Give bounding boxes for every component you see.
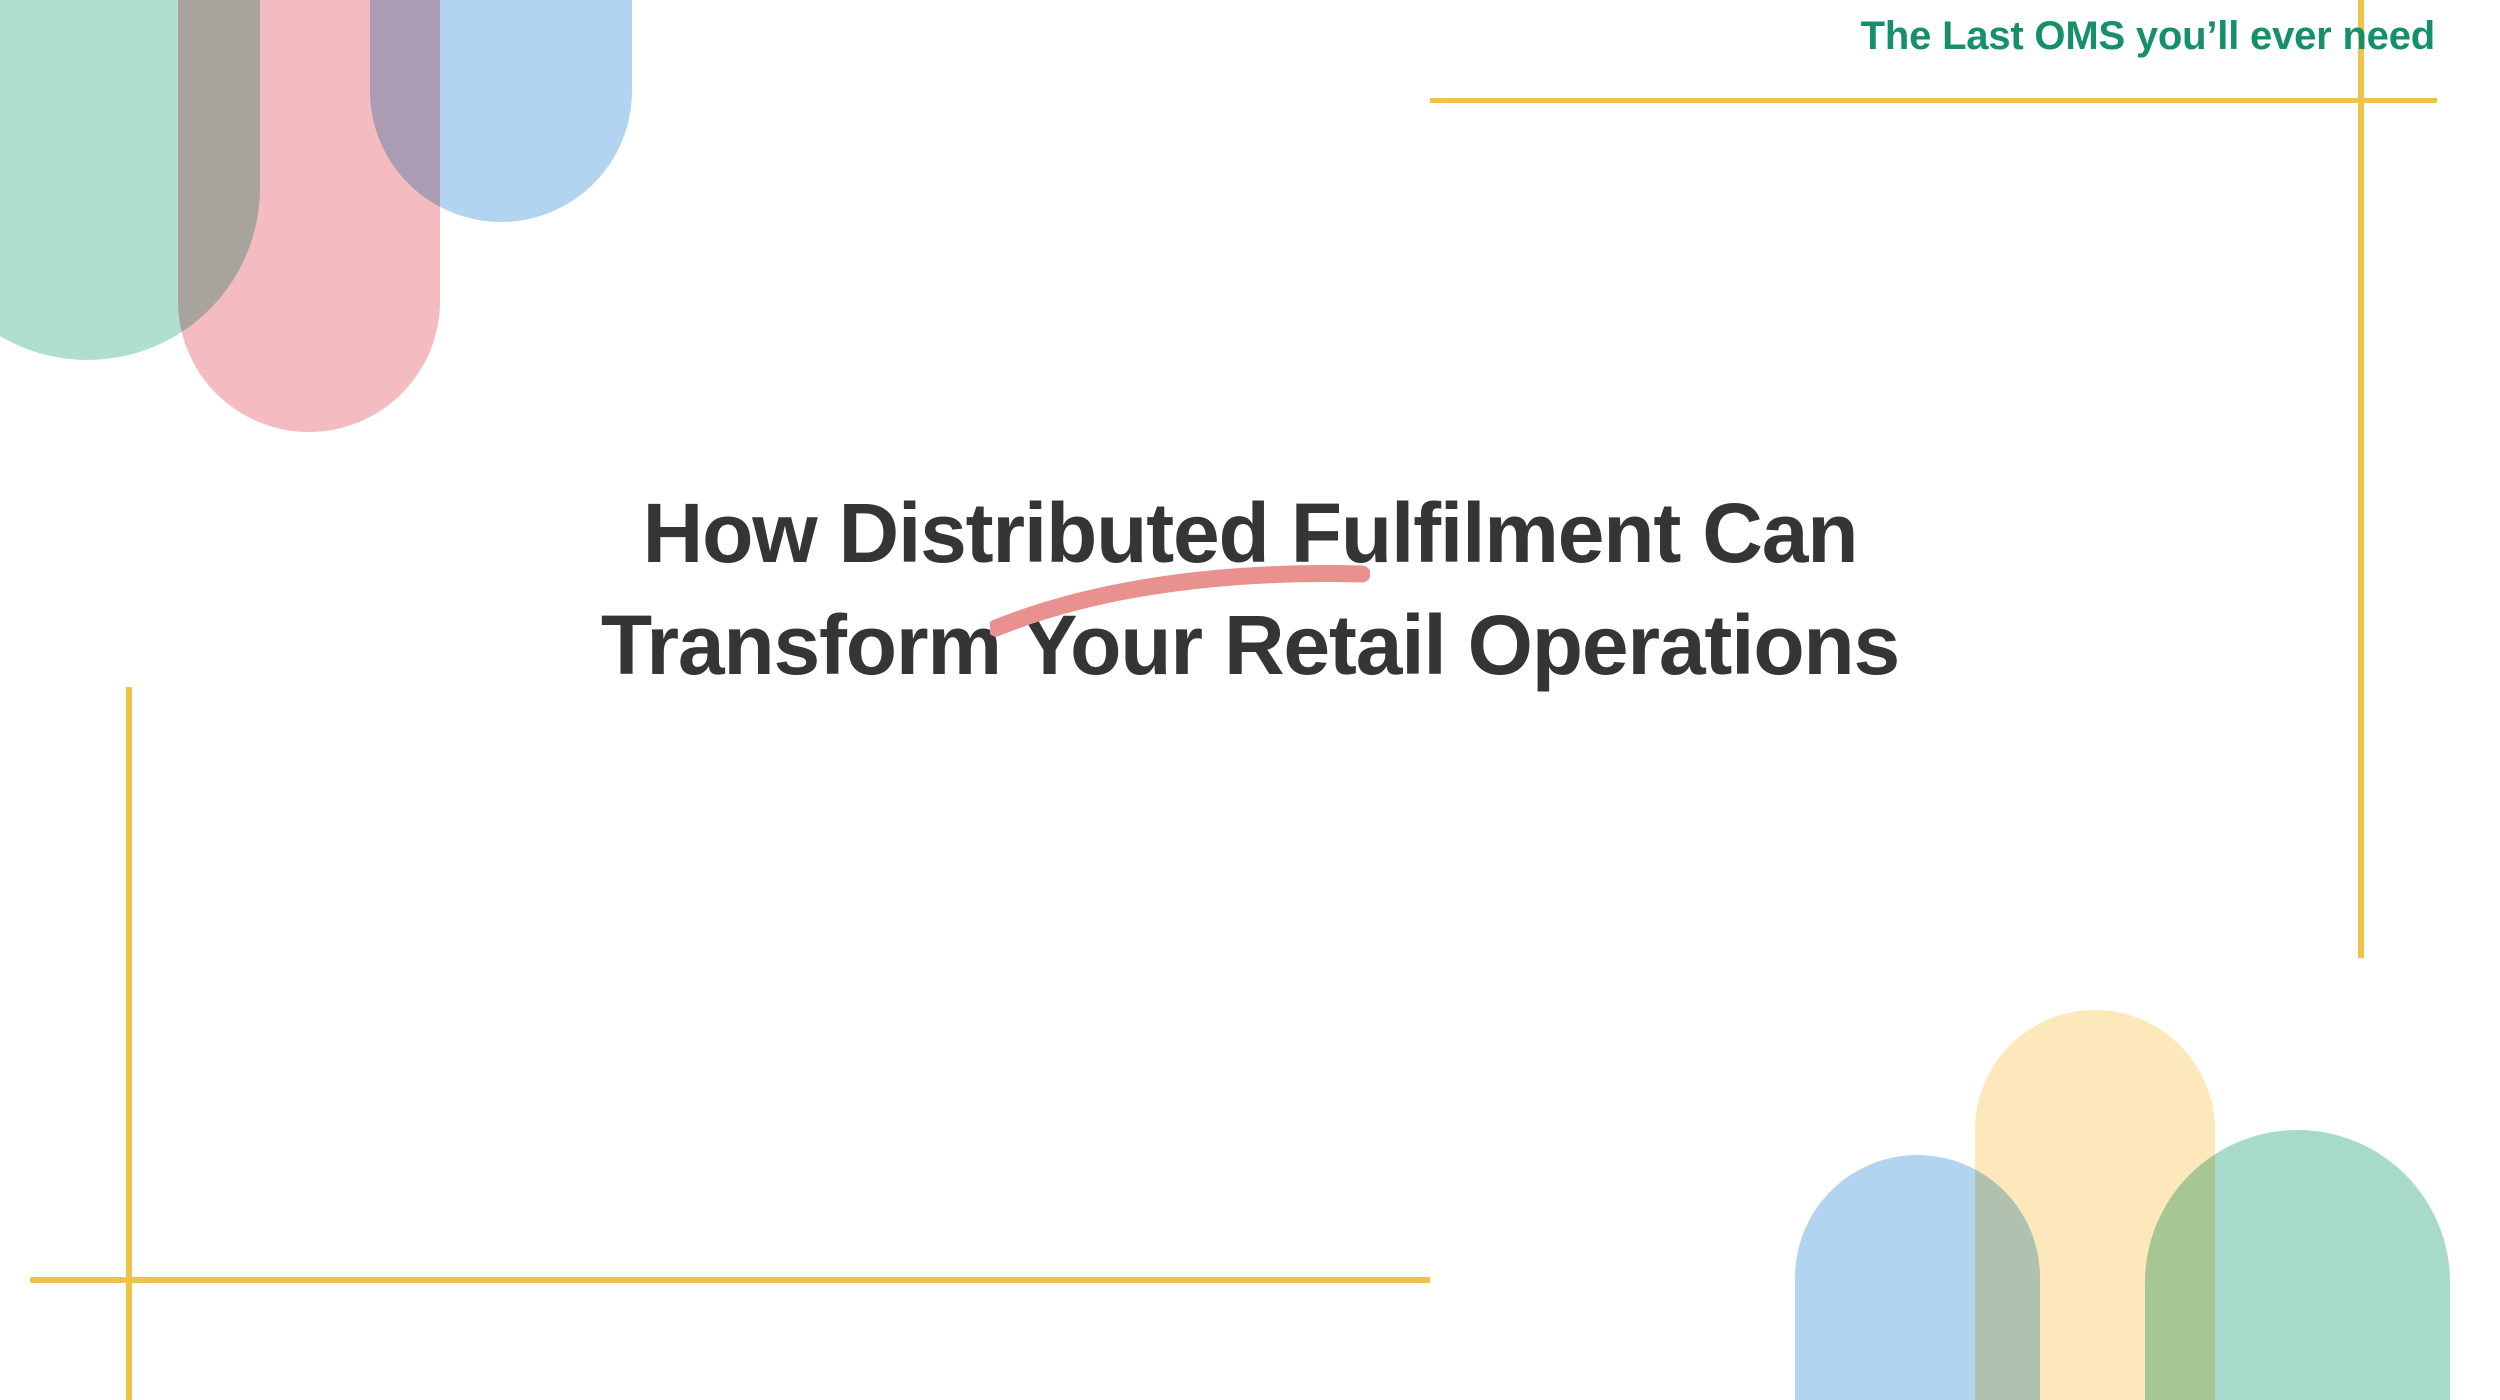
slide-title: How Distributed Fulfilment Can Transform…	[250, 478, 2250, 701]
bottom-horizontal-rule	[30, 1277, 1430, 1283]
bottom-right-blue-arch	[1795, 1155, 2040, 1400]
top-left-pink-arch	[178, 0, 440, 432]
bottom-right-cream-arch	[1975, 1010, 2215, 1400]
left-vertical-rule	[126, 687, 132, 1400]
title-line-2: Transform Your Retail Operations	[250, 590, 2250, 702]
top-left-arch-cluster	[0, 0, 700, 500]
top-horizontal-rule	[1430, 98, 2437, 103]
right-vertical-rule	[2358, 0, 2364, 958]
slide-canvas: The Last OMS you’ll ever need How Distri…	[0, 0, 2500, 1400]
bottom-right-mint-arch	[2145, 1130, 2450, 1400]
top-left-blue-arch	[370, 0, 632, 222]
tagline-text: The Last OMS you’ll ever need	[1430, 14, 2435, 59]
bottom-right-arch-cluster	[1790, 955, 2500, 1400]
title-line-1: How Distributed Fulfilment Can	[250, 478, 2250, 590]
top-left-green-arch	[0, 0, 260, 360]
